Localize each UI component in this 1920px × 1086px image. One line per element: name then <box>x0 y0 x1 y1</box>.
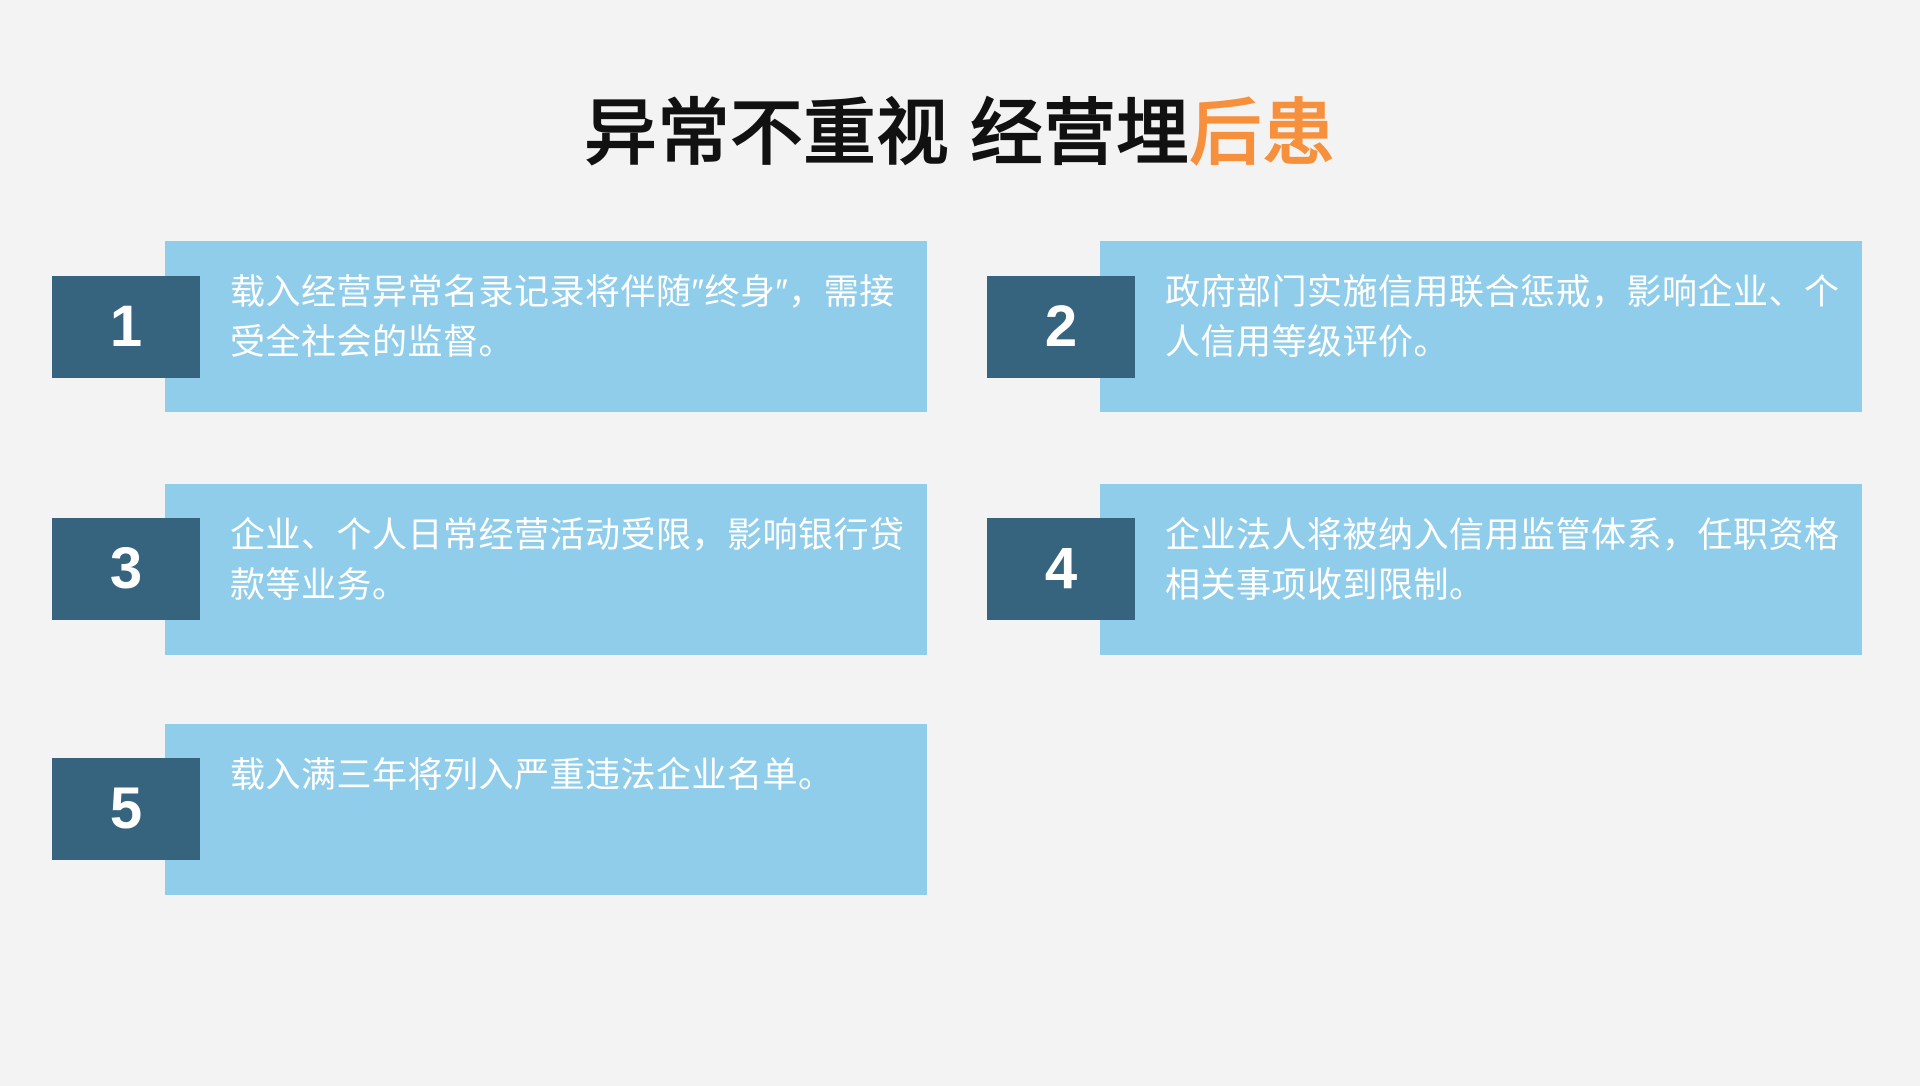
page-title-accent: 后患 <box>1190 94 1336 174</box>
card-body-text: 政府部门实施信用联合惩戒，影响企业、个人信用等级评价。 <box>1165 268 1845 367</box>
page-title-main: 异常不重视 经营埋 <box>584 94 1189 174</box>
page-title: 异常不重视 经营埋后患 <box>0 98 1920 170</box>
card-number-badge: 1 <box>52 276 200 378</box>
card-body-text: 载入经营异常名录记录将伴随″终身″，需接受全社会的监督。 <box>230 268 910 367</box>
card-body-text: 企业、个人日常经营活动受限，影响银行贷款等业务。 <box>230 511 910 610</box>
card-number-badge: 5 <box>52 758 200 860</box>
card-panel <box>165 724 927 895</box>
slide-canvas: 异常不重视 经营埋后患 1 载入经营异常名录记录将伴随″终身″，需接受全社会的监… <box>0 0 1920 1086</box>
card-number-badge: 4 <box>987 518 1135 620</box>
card-body-text: 企业法人将被纳入信用监管体系，任职资格相关事项收到限制。 <box>1165 511 1845 610</box>
card-body-text: 载入满三年将列入严重违法企业名单。 <box>230 751 910 801</box>
card-number-badge: 2 <box>987 276 1135 378</box>
card-number-badge: 3 <box>52 518 200 620</box>
